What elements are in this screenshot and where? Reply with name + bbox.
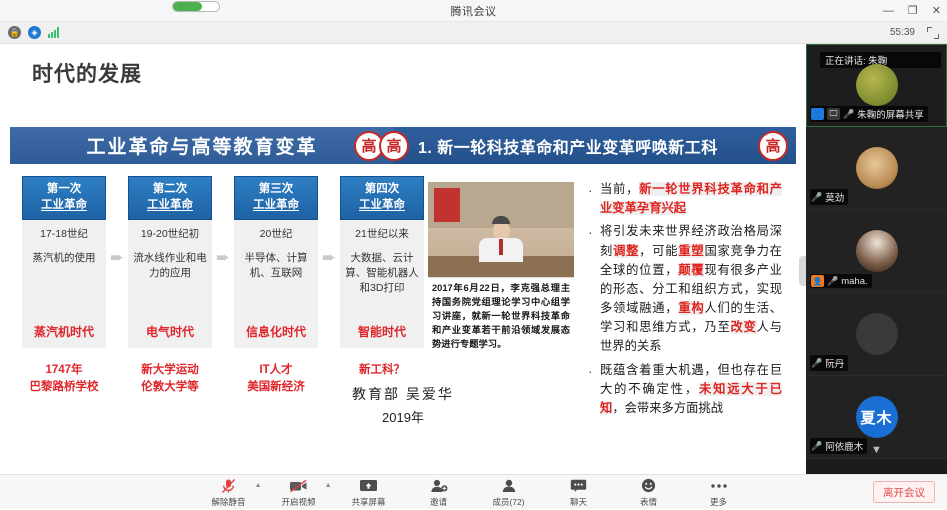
chat-button[interactable]: 聊天 <box>555 478 603 508</box>
avatar: 夏木 <box>856 396 898 438</box>
sidebar-collapse-handle[interactable] <box>799 256 806 286</box>
chat-bubble-icon <box>570 478 587 494</box>
maximize-button[interactable]: ❐ <box>908 6 918 17</box>
participant-name: 莫劲 <box>825 190 844 204</box>
participant-namebar: 🎤 莫劲 <box>810 189 848 205</box>
chevron-down-icon[interactable]: ▼ <box>871 444 882 456</box>
participant-namebar: 👤 🎤 maha. <box>810 274 872 288</box>
step-foot-line1: IT人才 <box>247 362 305 379</box>
participant-namebar: 👤 🖵 🎤 朱鞠的屏幕共享 <box>810 106 928 122</box>
step-era: 20世纪 <box>260 226 293 241</box>
toolbar-label: 开启视频 <box>281 496 315 508</box>
toolbar-label: 更多 <box>710 496 727 508</box>
upload-progress-pill <box>172 1 220 12</box>
list-item: · 当前，新一轮世界科技革命和产业变革孕育兴起 <box>588 180 782 218</box>
footer-line2: 2019年 <box>10 407 796 426</box>
step-head: 第三次 工业革命 <box>234 176 318 220</box>
participant-name: 阿依鹿木 <box>825 439 863 453</box>
avatar <box>856 64 898 106</box>
meeting-photo <box>428 182 574 277</box>
slide-footer: 教育部 吴爱华 2019年 <box>10 384 796 426</box>
step-body: 21世纪以来 大数据、云计算、智能机器人和3D打印 智能时代 <box>340 220 424 348</box>
participant-tile[interactable]: 👤 🎤 maha. <box>806 210 947 293</box>
fullscreen-icon[interactable] <box>927 27 939 39</box>
step-age: 蒸汽机时代 <box>34 323 94 340</box>
unmute-button[interactable]: 解除静音 ▲ <box>205 478 253 508</box>
step-head: 第四次 工业革命 <box>340 176 424 220</box>
meeting-info-bar: 🔒 ◈ 55:39 <box>0 22 947 44</box>
arrow-icon: ➨ <box>108 176 126 268</box>
screen-share-icon <box>359 478 378 494</box>
participant-name: 朱鞠的屏幕共享 <box>857 107 924 121</box>
toolbar-label: 共享屏幕 <box>351 496 385 508</box>
step-age: 信息化时代 <box>246 323 306 340</box>
band-right: 高 1. 新一轮科技革命和产业变革呼唤新工科 高 <box>394 127 796 164</box>
step-head-line2: 工业革命 <box>253 199 299 211</box>
step-age: 电气时代 <box>146 323 194 340</box>
screen-share-icon: 🖵 <box>827 108 840 120</box>
bullet-text: 当前，新一轮世界科技革命和产业变革孕育兴起 <box>600 180 782 218</box>
slide-header-band: 工业革命与高等教育变革 高 高 1. 新一轮科技革命和产业变革呼唤新工科 高 <box>10 127 796 164</box>
camera-off-icon <box>289 478 308 494</box>
step-card: 第三次 工业革命 20世纪 半导体、计算机、互联网 信息化时代 IT人才 美国新… <box>232 176 320 397</box>
toolbar-label: 聊天 <box>570 496 587 508</box>
more-dots-icon <box>710 478 728 494</box>
toolbar-label: 邀请 <box>430 496 447 508</box>
participant-tile[interactable]: 正在讲话: 朱鞠 👤 🖵 🎤 朱鞠的屏幕共享 <box>806 44 947 127</box>
more-button[interactable]: 更多 <box>695 478 743 508</box>
step-card: 第四次 工业革命 21世纪以来 大数据、云计算、智能机器人和3D打印 智能时代 … <box>338 176 426 379</box>
mic-muted-icon: 🎤 <box>811 441 822 452</box>
window-titlebar: 腾讯会议 — ❐ ✕ <box>0 0 947 22</box>
mic-on-icon: 🎤 <box>843 109 854 120</box>
participant-namebar: 🎤 阿依鹿木 <box>810 438 867 454</box>
avatar <box>856 313 898 355</box>
minimize-button[interactable]: — <box>883 6 894 17</box>
step-era: 17-18世纪 <box>40 226 88 241</box>
step-desc: 流水线作业和电力的应用 <box>131 251 209 281</box>
members-button[interactable]: 成员(72) <box>485 478 533 508</box>
invite-button[interactable]: 邀请 <box>415 478 463 508</box>
step-head: 第二次 工业革命 <box>128 176 212 220</box>
mic-muted-icon: 🎤 <box>811 358 822 369</box>
step-head-line2: 工业革命 <box>41 199 87 211</box>
start-video-button[interactable]: 开启视频 ▲ <box>275 478 323 508</box>
arrow-icon: ➨ <box>214 176 232 268</box>
step-head-line1: 第四次 <box>341 182 423 198</box>
step-head-line1: 第三次 <box>235 182 317 198</box>
tencent-meeting-window: 腾讯会议 — ❐ ✕ 🔒 ◈ 55:39 时代的发展 工业革命与高等教育变革 高 <box>0 0 947 509</box>
step-foot-line1: 1747年 <box>30 362 99 379</box>
bullet-marker: · <box>588 180 600 218</box>
step-head-line2: 工业革命 <box>147 199 193 211</box>
avatar <box>856 230 898 272</box>
mic-muted-icon: 🎤 <box>827 276 838 287</box>
participant-tile[interactable]: 🎤 阮丹 <box>806 293 947 376</box>
toolbar-label: 成员(72) <box>492 496 524 508</box>
participant-tile[interactable]: 夏木 🎤 阿依鹿木 ▼ <box>806 376 947 459</box>
seal-icon: 高 <box>758 131 788 161</box>
step-body: 17-18世纪 蒸汽机的使用 蒸汽机时代 <box>22 220 106 348</box>
invite-person-icon <box>430 478 448 494</box>
step-desc: 蒸汽机的使用 <box>33 251 96 266</box>
step-head-line1: 第二次 <box>129 182 211 198</box>
chevron-up-icon[interactable]: ▲ <box>255 482 262 489</box>
window-title: 腾讯会议 <box>451 3 497 19</box>
step-foot: 新工科？ <box>359 362 405 379</box>
participant-rail[interactable]: 正在讲话: 朱鞠 👤 🖵 🎤 朱鞠的屏幕共享 🎤 莫劲 👤 🎤 maha. <box>806 44 947 474</box>
step-card: 第一次 工业革命 17-18世纪 蒸汽机的使用 蒸汽机时代 1747年 巴黎路桥… <box>20 176 108 397</box>
photo-caption: 2017年6月22日，李克强总理主持国务院党组理论学习中心组学习讲座，就新一轮世… <box>428 277 574 357</box>
shield-icon[interactable]: ◈ <box>28 26 41 39</box>
share-screen-button[interactable]: 共享屏幕 <box>345 478 393 508</box>
step-card: 第二次 工业革命 19-20世纪初 流水线作业和电力的应用 电气时代 新大学运动… <box>126 176 214 397</box>
list-item: · 将引发未来世界经济政治格局深刻调整，可能重塑国家竞争力在全球的位置，颠覆现有… <box>588 222 782 356</box>
step-age: 智能时代 <box>358 323 406 340</box>
step-era: 21世纪以来 <box>355 226 409 241</box>
step-head-line2: 工业革命 <box>359 199 405 211</box>
band-left-title: 工业革命与高等教育变革 <box>86 132 317 159</box>
shared-screen-stage[interactable]: 时代的发展 工业革命与高等教育变革 高 高 1. 新一轮科技革命和产业变革呼唤新… <box>0 44 806 474</box>
participant-name: maha. <box>841 276 867 287</box>
step-desc: 大数据、云计算、智能机器人和3D打印 <box>343 251 421 297</box>
step-head-line1: 第一次 <box>23 182 105 198</box>
page-title: 时代的发展 <box>32 58 142 88</box>
chevron-up-icon[interactable]: ▲ <box>325 482 332 489</box>
signal-bars-icon[interactable] <box>48 27 59 38</box>
band-right-title: 1. 新一轮科技革命和产业变革呼唤新工科 <box>418 134 718 158</box>
meeting-timer: 55:39 <box>890 27 915 38</box>
participant-name: 阮丹 <box>825 356 844 370</box>
lock-icon[interactable]: 🔒 <box>8 26 21 39</box>
host-badge-icon: 👤 <box>811 108 824 120</box>
arrow-icon: ➨ <box>320 176 338 268</box>
leave-meeting-button[interactable]: 离开会议 <box>873 481 935 503</box>
mic-muted-icon <box>221 478 236 494</box>
meeting-toolbar: 解除静音 ▲ 开启视频 ▲ 共享屏幕 邀请 <box>0 474 947 509</box>
step-body: 20世纪 半导体、计算机、互联网 信息化时代 <box>234 220 318 348</box>
step-head: 第一次 工业革命 <box>22 176 106 220</box>
step-era: 19-20世纪初 <box>141 226 199 241</box>
band-left: 工业革命与高等教育变革 高 <box>10 127 394 164</box>
window-controls: — ❐ ✕ <box>883 0 941 22</box>
avatar <box>856 147 898 189</box>
emoji-button[interactable]: 表情 <box>625 478 673 508</box>
members-icon <box>501 478 517 494</box>
step-foot-line1: 新大学运动 <box>141 362 199 379</box>
emoji-smiley-icon <box>641 478 656 494</box>
toolbar-label: 表情 <box>640 496 657 508</box>
bullet-text: 将引发未来世界经济政治格局深刻调整，可能重塑国家竞争力在全球的位置，颠覆现有很多… <box>600 222 782 356</box>
cohost-badge-icon: 👤 <box>811 275 824 287</box>
seal-icon: 高 <box>379 131 409 161</box>
step-body: 19-20世纪初 流水线作业和电力的应用 电气时代 <box>128 220 212 348</box>
close-button[interactable]: ✕ <box>932 6 941 17</box>
toolbar-label: 解除静音 <box>211 496 245 508</box>
bullet-marker: · <box>588 222 600 356</box>
step-foot-line1: 新工科？ <box>359 362 405 379</box>
footer-line1: 教育部 吴爱华 <box>10 384 796 404</box>
step-desc: 半导体、计算机、互联网 <box>237 251 315 281</box>
presentation-slide: 工业革命与高等教育变革 高 高 1. 新一轮科技革命和产业变革呼唤新工科 高 第… <box>10 127 796 432</box>
mic-muted-icon: 🎤 <box>811 192 822 203</box>
participant-tile[interactable]: 🎤 莫劲 <box>806 127 947 210</box>
participant-namebar: 🎤 阮丹 <box>810 355 848 371</box>
